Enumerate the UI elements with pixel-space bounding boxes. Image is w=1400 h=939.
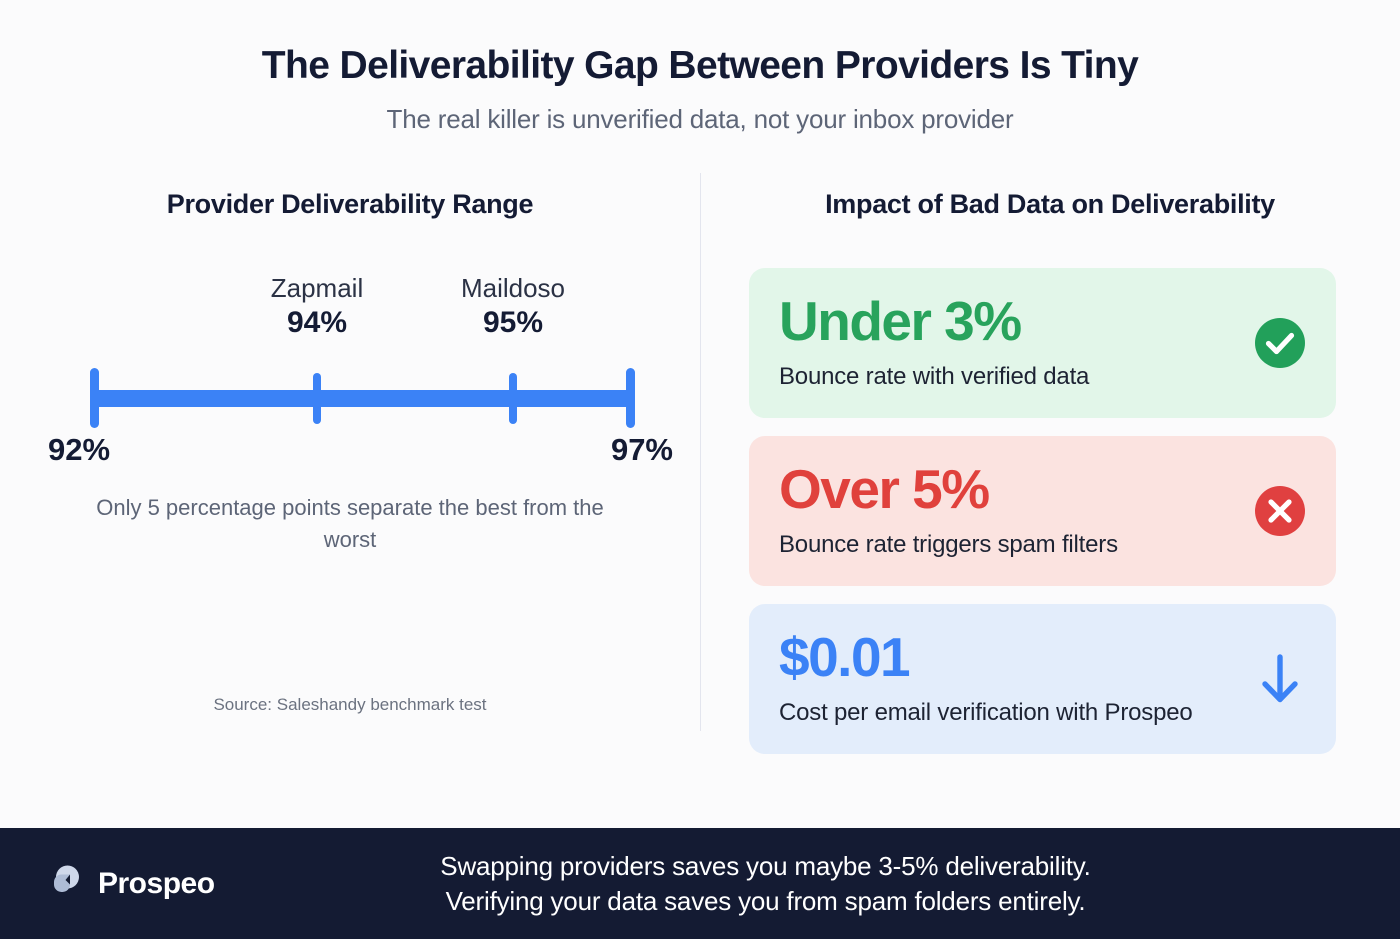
footer-line-2: Verifying your data saves you from spam …: [281, 884, 1250, 919]
bad-data-impact-panel: Impact of Bad Data on Deliverability Und…: [700, 171, 1400, 731]
stat-description: Bounce rate triggers spam filters: [779, 531, 1306, 559]
footer-line-1: Swapping providers saves you maybe 3-5% …: [281, 849, 1250, 884]
stat-description: Cost per email verification with Prospeo: [779, 699, 1306, 727]
provider-range-panel: Provider Deliverability Range Zapmail 94…: [0, 171, 700, 731]
stat-value: Over 5%: [779, 461, 1306, 519]
header: The Deliverability Gap Between Providers…: [0, 0, 1400, 135]
footer-bar: Prospeo Swapping providers saves you may…: [0, 828, 1400, 939]
stat-card-spam-filter-bounce: Over 5% Bounce rate triggers spam filter…: [749, 436, 1336, 586]
page-title: The Deliverability Gap Between Providers…: [0, 44, 1400, 88]
x-circle-icon: [1254, 485, 1306, 537]
marker-name: Maildoso: [413, 274, 613, 304]
range-cap-start: [90, 368, 99, 428]
range-min-label: 92%: [48, 432, 110, 468]
marker-value: 94%: [217, 304, 417, 342]
range-max-label: 97%: [611, 432, 673, 468]
stat-value: $0.01: [779, 629, 1306, 687]
stat-card-verification-cost: $0.01 Cost per email verification with P…: [749, 604, 1336, 754]
range-tick-zapmail: [313, 373, 321, 424]
range-marker-zapmail: Zapmail 94%: [217, 274, 417, 341]
left-panel-title: Provider Deliverability Range: [0, 189, 700, 220]
range-bar: [92, 390, 633, 407]
stat-card-verified-bounce: Under 3% Bounce rate with verified data: [749, 268, 1336, 418]
stat-description: Bounce rate with verified data: [779, 363, 1306, 391]
check-circle-icon: [1254, 317, 1306, 369]
range-cap-end: [626, 368, 635, 428]
arrow-down-icon: [1254, 653, 1306, 705]
source-note: Source: Saleshandy benchmark test: [0, 695, 700, 715]
range-marker-maildoso: Maildoso 95%: [413, 274, 613, 341]
marker-name: Zapmail: [217, 274, 417, 304]
content-area: Provider Deliverability Range Zapmail 94…: [0, 171, 1400, 771]
marker-value: 95%: [413, 304, 613, 342]
brand-name: Prospeo: [98, 867, 215, 901]
brand-lockup: Prospeo: [45, 861, 281, 906]
range-chart: Zapmail 94% Maildoso 95% 92% 97%: [0, 274, 700, 464]
footer-message: Swapping providers saves you maybe 3-5% …: [281, 849, 1400, 918]
prospeo-logo-icon: [45, 861, 85, 906]
range-caption: Only 5 percentage points separate the be…: [0, 492, 700, 556]
right-panel-title: Impact of Bad Data on Deliverability: [700, 189, 1400, 220]
stat-value: Under 3%: [779, 293, 1306, 351]
stat-card-list: Under 3% Bounce rate with verified data …: [700, 268, 1400, 754]
range-tick-maildoso: [509, 373, 517, 424]
page-subtitle: The real killer is unverified data, not …: [0, 104, 1400, 135]
